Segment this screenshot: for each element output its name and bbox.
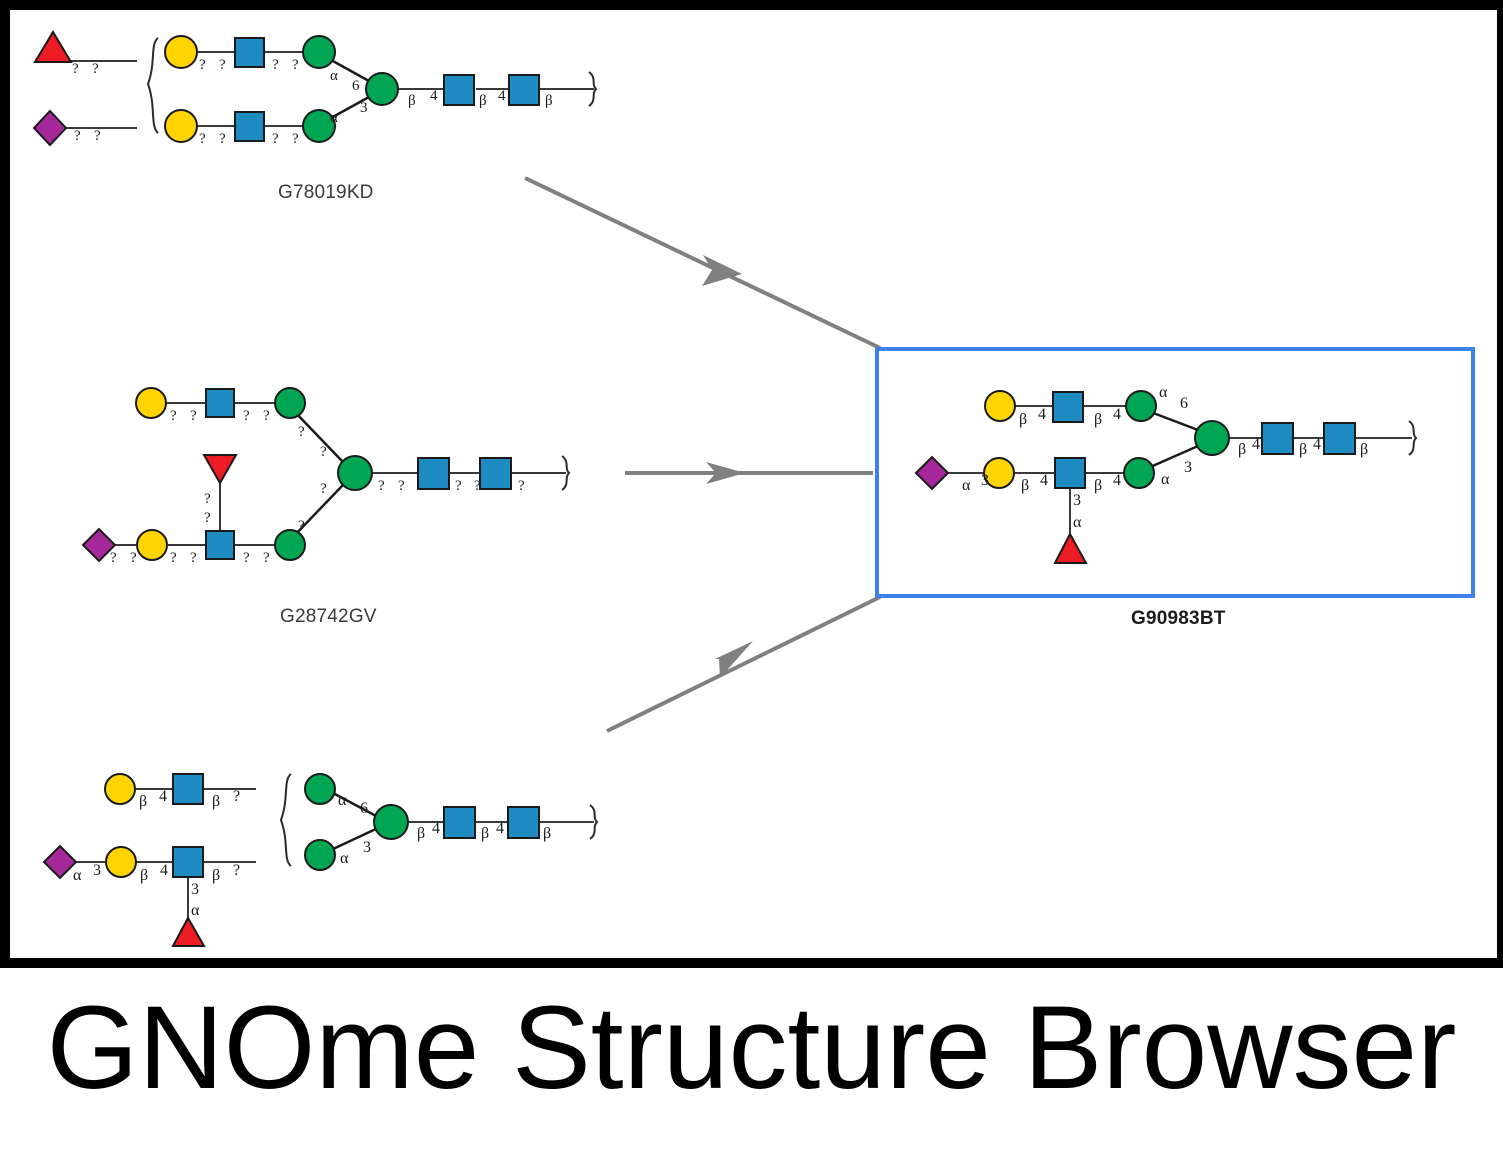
structure-label-G78019KD[interactable]: G78019KD (278, 182, 374, 204)
structure-label-G28742GV[interactable]: G28742GV (280, 606, 377, 628)
selected-structure-highlight[interactable] (875, 347, 1475, 598)
structure-label-G90983BT[interactable]: G90983BT (1131, 608, 1226, 630)
gnome-structure-browser-page: ? ? ? ? (0, 0, 1503, 1150)
app-title: GNOme Structure Browser (0, 988, 1503, 1108)
